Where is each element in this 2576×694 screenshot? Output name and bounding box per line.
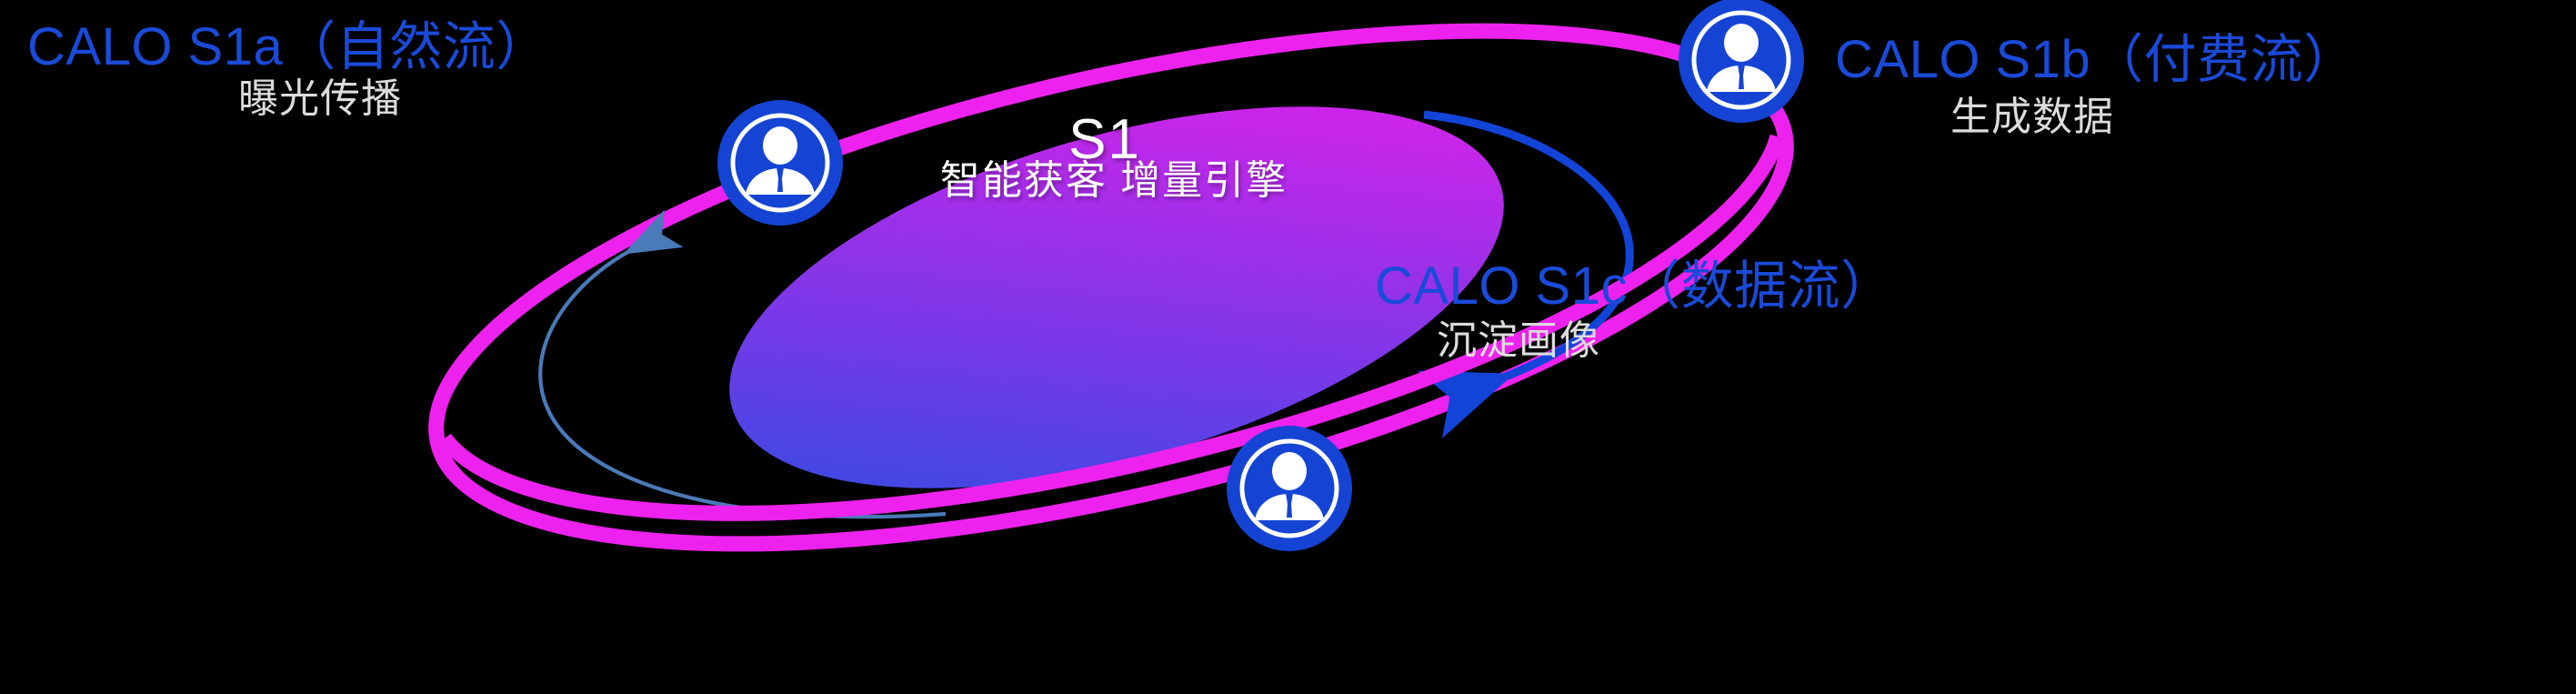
- node-s1b-title[interactable]: CALO S1b（付费流）: [1835, 33, 2357, 88]
- node-s1c-subtitle: 沉淀画像: [1437, 320, 1600, 362]
- node-s1a[interactable]: [717, 100, 843, 226]
- node-s1c-title[interactable]: CALO S1c（数据流）: [1375, 259, 1894, 315]
- node-s1c[interactable]: [1227, 426, 1352, 551]
- node-s1b[interactable]: [1679, 0, 1804, 123]
- node-s1a-subtitle: 曝光传播: [238, 78, 402, 120]
- diagram-canvas: S1 智能获客 增量引擎 CALO S1a（自然流） 曝光传播 CALO S1b…: [0, 0, 2576, 694]
- node-s1b-subtitle: 生成数据: [1950, 96, 2114, 138]
- node-s1a-title[interactable]: CALO S1a（自然流）: [27, 20, 549, 75]
